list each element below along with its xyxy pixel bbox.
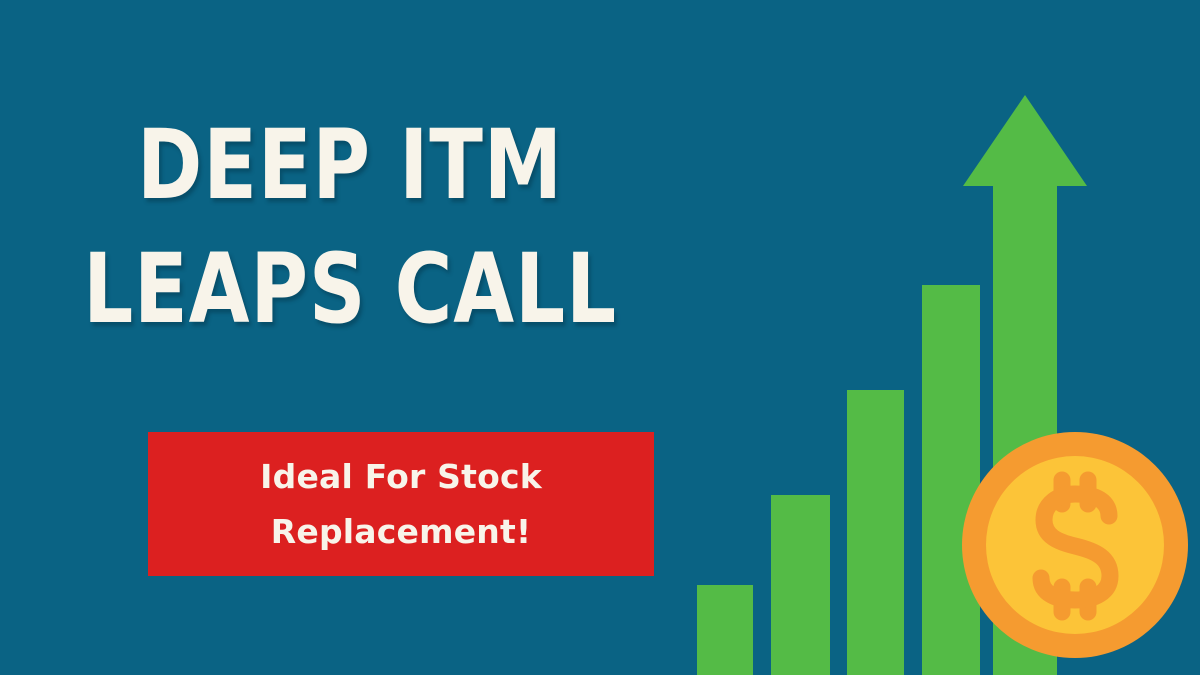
- chart-bar-1: [697, 585, 753, 675]
- dollar-coin-icon: [962, 432, 1188, 658]
- coin-dollar-sign: [962, 432, 1188, 658]
- promo-graphic-canvas: DEEP ITM LEAPS CALL Ideal For Stock Repl…: [0, 0, 1200, 675]
- banner-line-1: Ideal For Stock: [260, 460, 542, 493]
- chart-bar-2: [771, 495, 830, 675]
- headline: DEEP ITM LEAPS CALL: [0, 118, 700, 336]
- banner-line-2: Replacement!: [271, 515, 531, 548]
- headline-line-1: DEEP ITM: [63, 118, 637, 212]
- headline-line-2: LEAPS CALL: [63, 242, 637, 336]
- subtitle-banner: Ideal For Stock Replacement!: [148, 432, 654, 576]
- chart-bar-3: [847, 390, 904, 675]
